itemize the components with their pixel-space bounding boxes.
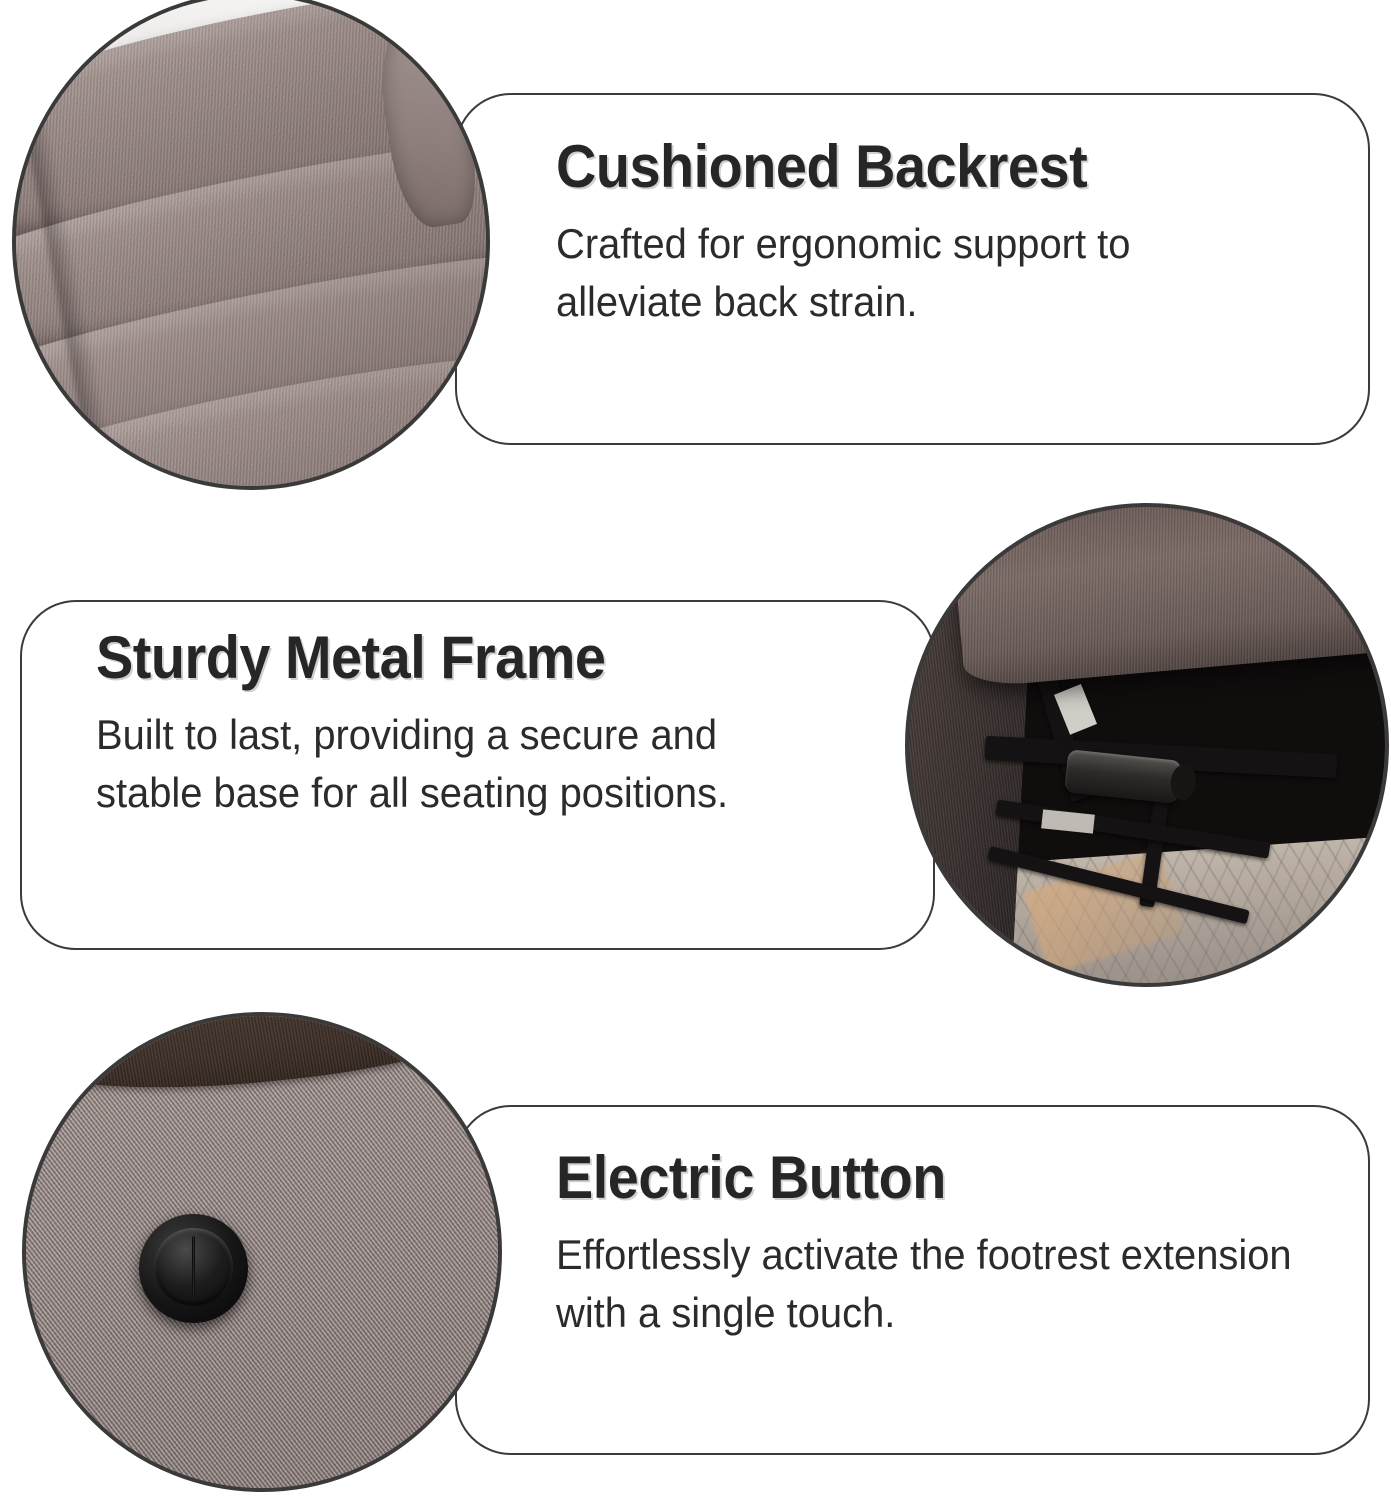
- electric-button-housing[interactable]: [139, 1214, 248, 1323]
- electric-button-photo: [22, 1012, 502, 1492]
- feature-3-heading: Electric Button: [556, 1148, 1291, 1208]
- cushion-photo: [12, 0, 490, 490]
- product-feature-infographic: Cushioned Backrest Crafted for ergonomic…: [0, 0, 1391, 1500]
- feature-2-text: Sturdy Metal Frame Built to last, provid…: [96, 628, 886, 822]
- feature-2-heading: Sturdy Metal Frame: [96, 628, 831, 688]
- feature-1-text: Cushioned Backrest Crafted for ergonomic…: [556, 137, 1316, 331]
- feature-3-text: Electric Button Effortlessly activate th…: [556, 1148, 1346, 1342]
- feature-2-body: Built to last, providing a secure and st…: [96, 706, 828, 822]
- metal-frame-photo: [905, 503, 1389, 987]
- electric-button-cap[interactable]: [154, 1228, 232, 1306]
- feature-3-body: Effortlessly activate the footrest exten…: [556, 1226, 1297, 1342]
- cushion-scene: [16, 0, 486, 486]
- feature-1-heading: Cushioned Backrest: [556, 137, 1263, 197]
- button-scene: [26, 1016, 498, 1488]
- metal-frame-scene: [909, 507, 1385, 983]
- feature-1-body: Crafted for ergonomic support to allevia…: [556, 215, 1259, 331]
- armrest-fabric: [26, 1016, 498, 1488]
- button-slot-divider: [192, 1236, 196, 1299]
